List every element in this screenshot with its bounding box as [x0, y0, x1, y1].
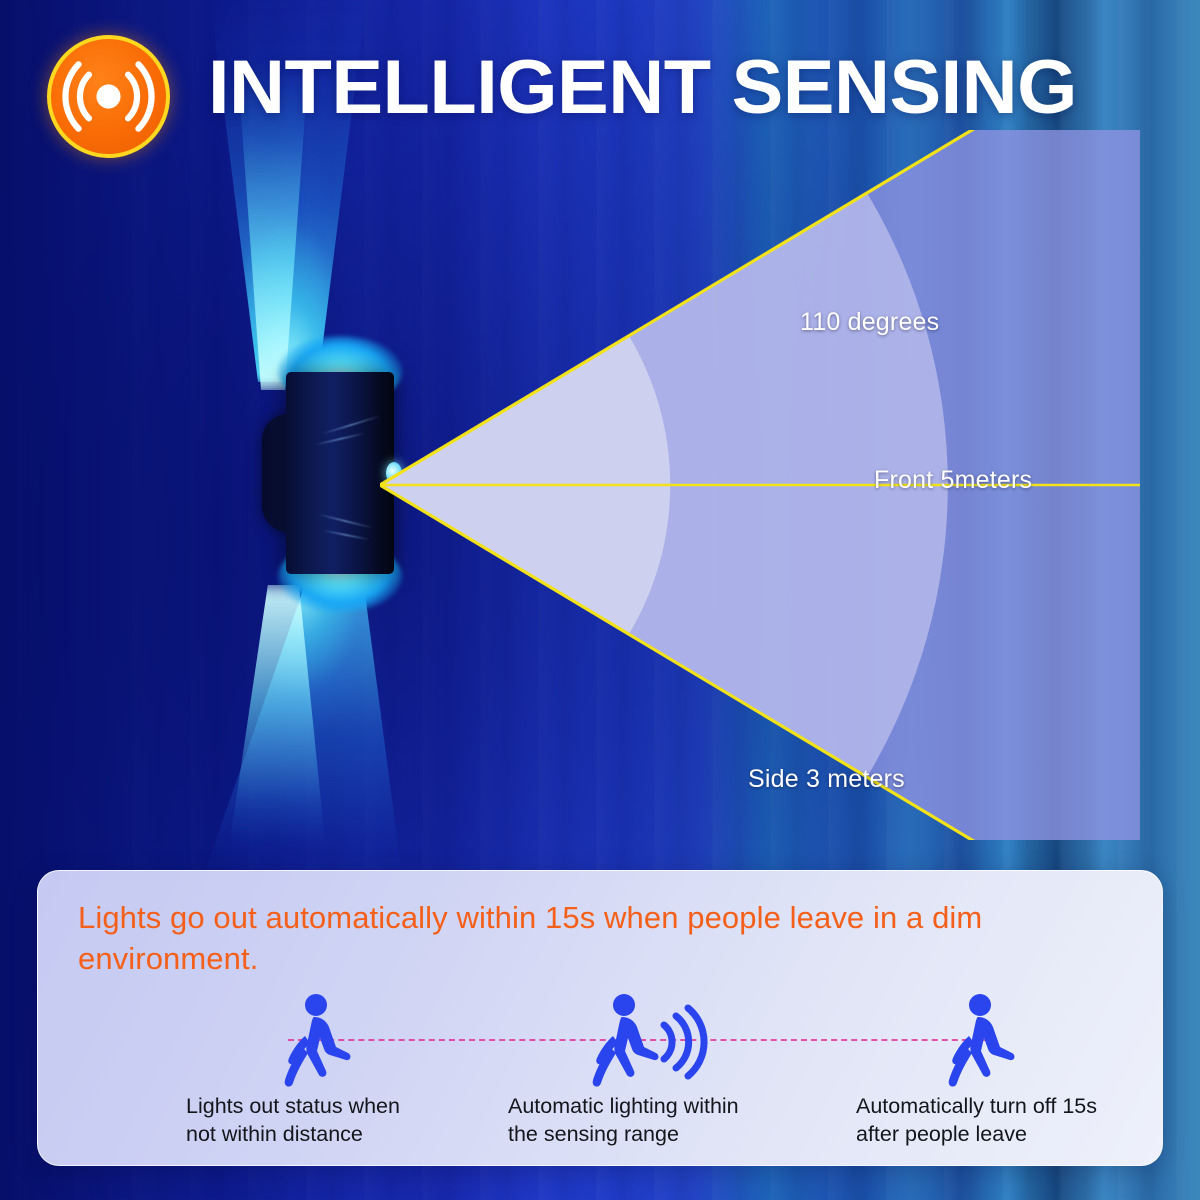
panel-headline: Lights go out automatically within 15s w…: [78, 897, 1123, 979]
caption-step-2: Automatic lighting within the sensing ra…: [508, 1093, 739, 1149]
walking-person-away-icon: [934, 991, 1054, 1093]
sensor-wave-icon: [47, 35, 170, 158]
caption-step-1-line1: Lights out status when: [186, 1093, 400, 1121]
label-side-range: Side 3 meters: [748, 765, 905, 794]
page-title: INTELLIGENT SENSING: [208, 44, 1077, 131]
label-110-degrees: 110 degrees: [800, 308, 939, 337]
caption-step-1-line2: not within distance: [186, 1121, 400, 1149]
walking-person-icon: [270, 991, 390, 1093]
caption-step-2-line1: Automatic lighting within: [508, 1093, 739, 1121]
walking-person-sensing-icon: [590, 991, 710, 1093]
wall-lamp: [286, 350, 394, 596]
lamp-body: [286, 372, 394, 574]
caption-step-3-line1: Automatically turn off 15s: [856, 1093, 1097, 1121]
label-front-range: Front 5meters: [874, 466, 1032, 495]
caption-step-3-line2: after people leave: [856, 1121, 1097, 1149]
caption-step-2-line2: the sensing range: [508, 1121, 739, 1149]
infographic-canvas: 110 degrees Front 5meters Side 3 meters …: [0, 0, 1200, 1200]
info-panel: Lights go out automatically within 15s w…: [37, 870, 1163, 1166]
caption-step-1: Lights out status when not within distan…: [186, 1093, 400, 1149]
caption-step-3: Automatically turn off 15s after people …: [856, 1093, 1097, 1149]
